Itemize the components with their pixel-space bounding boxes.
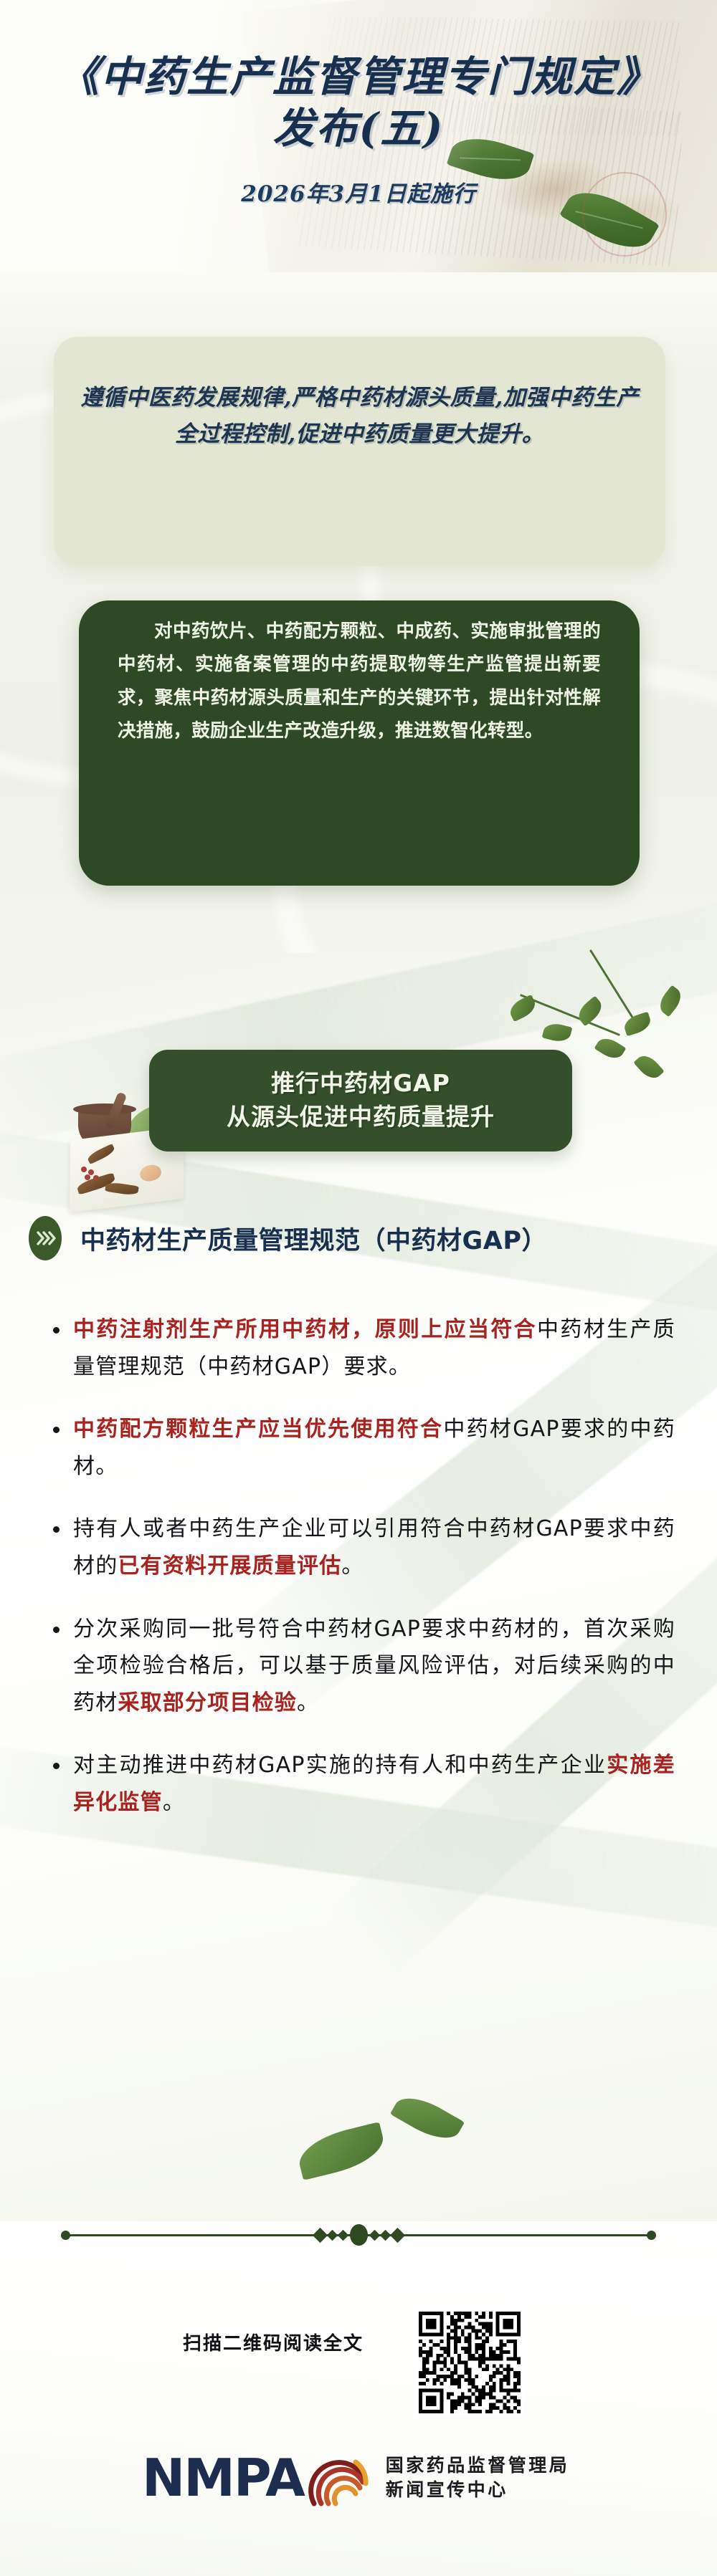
summary-card-text: 遵循中医药发展规律,严格中药材源头质量,加强中药生产全过程控制,促进中药质量更大…: [54, 380, 665, 453]
effective-date: 2026年3月1日起施行: [0, 176, 717, 208]
gap-bullet-list: 中药注射剂生产所用中药材，原则上应当符合中药材生产质量管理规范（中药材GAP）要…: [42, 1311, 675, 1847]
bullet-text: 。: [163, 1790, 185, 1815]
page-title-line2: 发布(五): [0, 103, 717, 155]
bullet-text: 。: [341, 1553, 364, 1579]
gap-bullet-item: 分次采购同一批号符合中药材GAP要求中药材的，首次采购全项检验合格后，可以基于质…: [42, 1611, 675, 1722]
qr-instruction-label: 扫描二维码阅读全文: [183, 2329, 364, 2355]
gap-bullet-item: 中药配方颗粒生产应当优先使用符合中药材GAP要求的中药材。: [42, 1411, 675, 1485]
page-title-line1: 《中药生产监督管理专门规定》: [57, 52, 660, 101]
bullet-highlight-text: 采取部分项目检验: [118, 1690, 297, 1715]
bullet-highlight-text: 中药注射剂生产所用中药材，原则上应当符合: [73, 1317, 537, 1342]
ornamental-divider: [61, 2225, 656, 2245]
gap-bullet-item: 对主动推进中药材GAP实施的持有人和中药生产企业实施差异化监管。: [42, 1747, 675, 1821]
gap-banner-line2: 从源头促进中药质量提升: [227, 1101, 495, 1134]
organization-line1: 国家药品监督管理局: [386, 2456, 570, 2476]
page-title: 《中药生产监督管理专门规定》 发布(五): [0, 52, 717, 155]
poster-root: 《中药生产监督管理专门规定》 发布(五) 2026年3月1日起施行 遵循中医药发…: [0, 0, 717, 2576]
footer-background: [0, 2221, 717, 2576]
gap-banner: 推行中药材GAP 从源头促进中药质量提升: [149, 1050, 572, 1151]
bullet-text: 。: [297, 1690, 319, 1715]
organization-line2: 新闻宣传中心: [386, 2480, 570, 2501]
nmpa-logo: NMPA 国家药品监督管理局 新闻宣传中心: [142, 2443, 579, 2512]
nmpa-wordmark: NMPA: [142, 2452, 304, 2504]
organization-name: 国家药品监督管理局 新闻宣传中心: [386, 2456, 570, 2501]
triple-chevron-right-icon: [29, 1216, 62, 1260]
detail-card-text: 对中药饮片、中药配方颗粒、中成药、实施审批管理的中药材、实施备案管理的中药提取物…: [79, 615, 640, 748]
section-heading: 中药材生产质量管理规范（中药材GAP）: [29, 1211, 688, 1265]
gap-banner-line1: 推行中药材GAP: [271, 1067, 450, 1101]
nmpa-radiating-arcs-icon: [308, 2449, 370, 2506]
section-heading-title: 中药材生产质量管理规范（中药材GAP）: [80, 1220, 547, 1257]
bullet-text: 对主动推进中药材GAP实施的持有人和中药生产企业: [73, 1753, 607, 1778]
qr-code-icon[interactable]: [416, 2309, 523, 2416]
bullet-highlight-text: 已有资料开展质量评估: [118, 1553, 341, 1579]
bullet-highlight-text: 中药配方颗粒生产应当优先使用符合: [73, 1417, 443, 1442]
gap-bullet-item: 中药注射剂生产所用中药材，原则上应当符合中药材生产质量管理规范（中药材GAP）要…: [42, 1311, 675, 1385]
gap-bullet-item: 持有人或者中药生产企业可以引用符合中药材GAP要求中药材的已有资料开展质量评估。: [42, 1510, 675, 1584]
